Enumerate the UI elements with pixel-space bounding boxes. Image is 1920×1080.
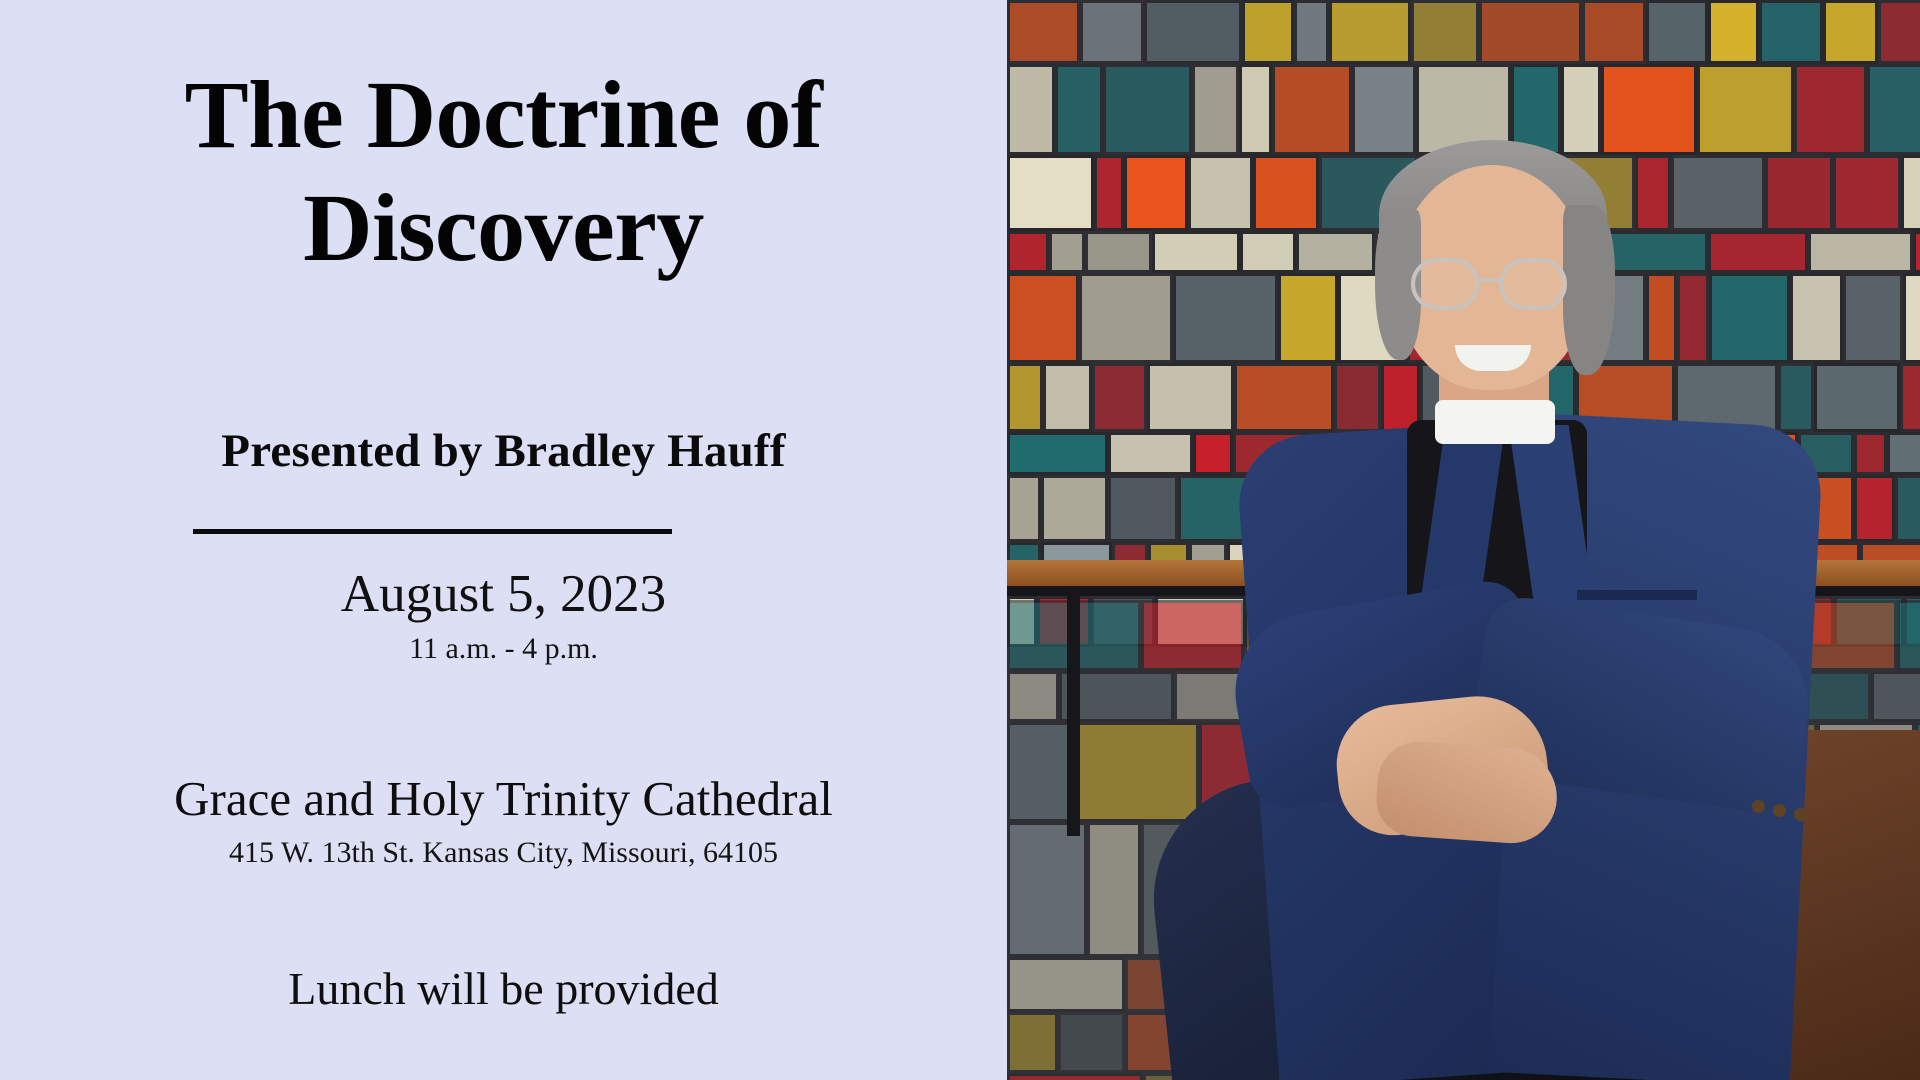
sleeve-button (1752, 800, 1765, 813)
lunch-note: Lunch will be provided (0, 962, 1007, 1015)
sleeve-button (1773, 804, 1786, 817)
glasses-bridge (1479, 278, 1501, 282)
venue-block: Grace and Holy Trinity Cathedral 415 W. … (0, 772, 1007, 870)
sleeve-button (1794, 808, 1807, 821)
clasped-hands-lower (1374, 739, 1560, 846)
venue-name: Grace and Holy Trinity Cathedral (0, 772, 1007, 827)
title-line-1: The Doctrine of (0, 58, 1007, 171)
date-block: August 5, 2023 11 a.m. - 4 p.m. (0, 565, 1007, 666)
title-line-2: Discovery (0, 171, 1007, 284)
event-date: August 5, 2023 (0, 565, 1007, 624)
presenter-line: Presented by Bradley Hauff (0, 424, 1007, 478)
presenter-photo (1007, 0, 1920, 1080)
horizontal-divider (193, 529, 672, 534)
event-time: 11 a.m. - 4 p.m. (0, 632, 1007, 666)
event-poster: The Doctrine of Discovery Presented by B… (0, 0, 1920, 1080)
venue-address: 415 W. 13th St. Kansas City, Missouri, 6… (0, 836, 1007, 870)
glasses-lens-left (1411, 258, 1479, 310)
glasses-lens-right (1499, 258, 1567, 310)
breast-pocket (1577, 590, 1697, 600)
clerical-collar (1435, 400, 1555, 444)
hair-right (1563, 205, 1615, 375)
text-panel: The Doctrine of Discovery Presented by B… (0, 0, 1007, 1080)
seated-figure (1007, 0, 1920, 1080)
page-title: The Doctrine of Discovery (0, 58, 1007, 285)
